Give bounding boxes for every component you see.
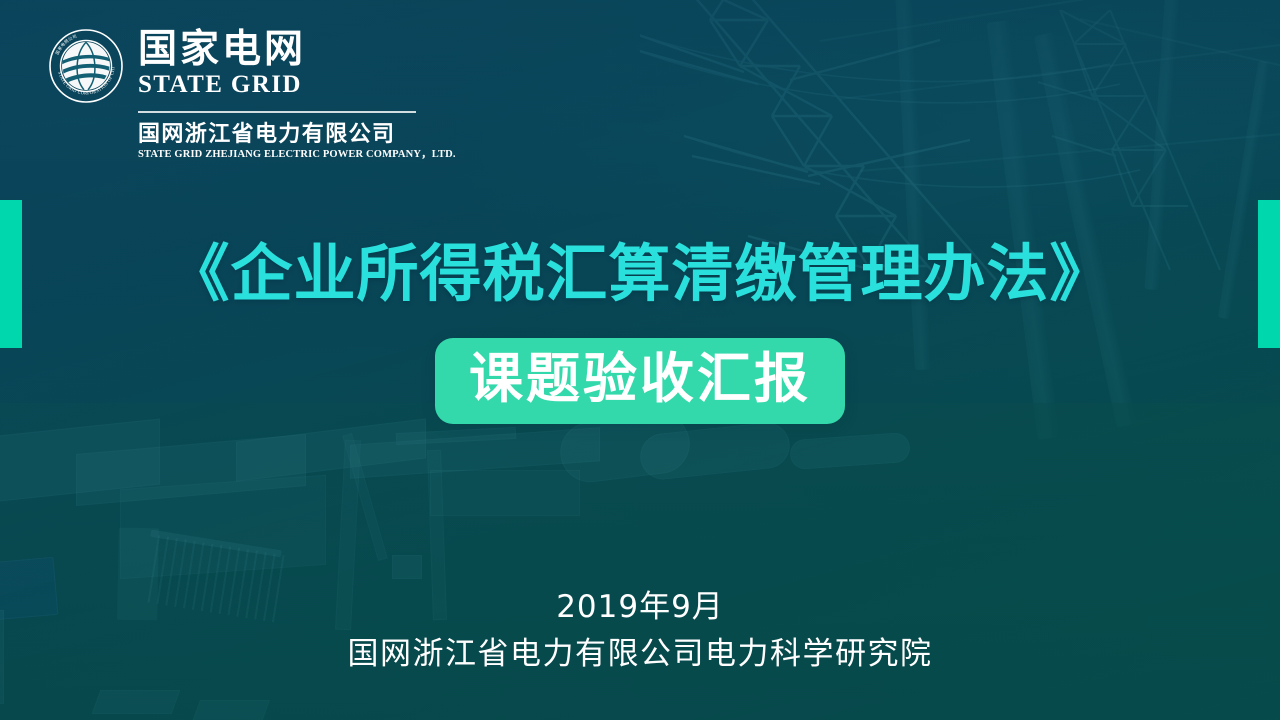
page-title: 《企业所得税汇算清缴管理办法》: [0, 238, 1280, 310]
title-slide: 国家电网公司 STATE GRID CORPORATION OF CHINA 国…: [0, 0, 1280, 720]
state-grid-globe-emblem-icon: 国家电网公司 STATE GRID CORPORATION OF CHINA: [48, 28, 124, 104]
subtitle-text: 课题验收汇报: [469, 348, 811, 410]
brand-name-cn: 国家电网: [138, 28, 456, 72]
footer-block: 2019年9月 国网浙江省电力有限公司电力科学研究院: [0, 585, 1280, 679]
subsidiary-name-en: STATE GRID ZHEJIANG ELECTRIC POWER COMPA…: [138, 148, 456, 161]
presentation-date: 2019年9月: [0, 585, 1280, 629]
logo-text-block: 国家电网 STATE GRID 国网浙江省电力有限公司 STATE GRID Z…: [138, 26, 456, 161]
subtitle-badge: 课题验收汇报: [435, 338, 845, 424]
state-grid-logo: 国家电网公司 STATE GRID CORPORATION OF CHINA 国…: [48, 26, 456, 161]
brand-name-en: STATE GRID: [138, 71, 456, 99]
subsidiary-name-cn: 国网浙江省电力有限公司: [138, 122, 456, 147]
logo-divider: [138, 111, 416, 113]
presenting-organization: 国网浙江省电力有限公司电力科学研究院: [0, 629, 1280, 679]
